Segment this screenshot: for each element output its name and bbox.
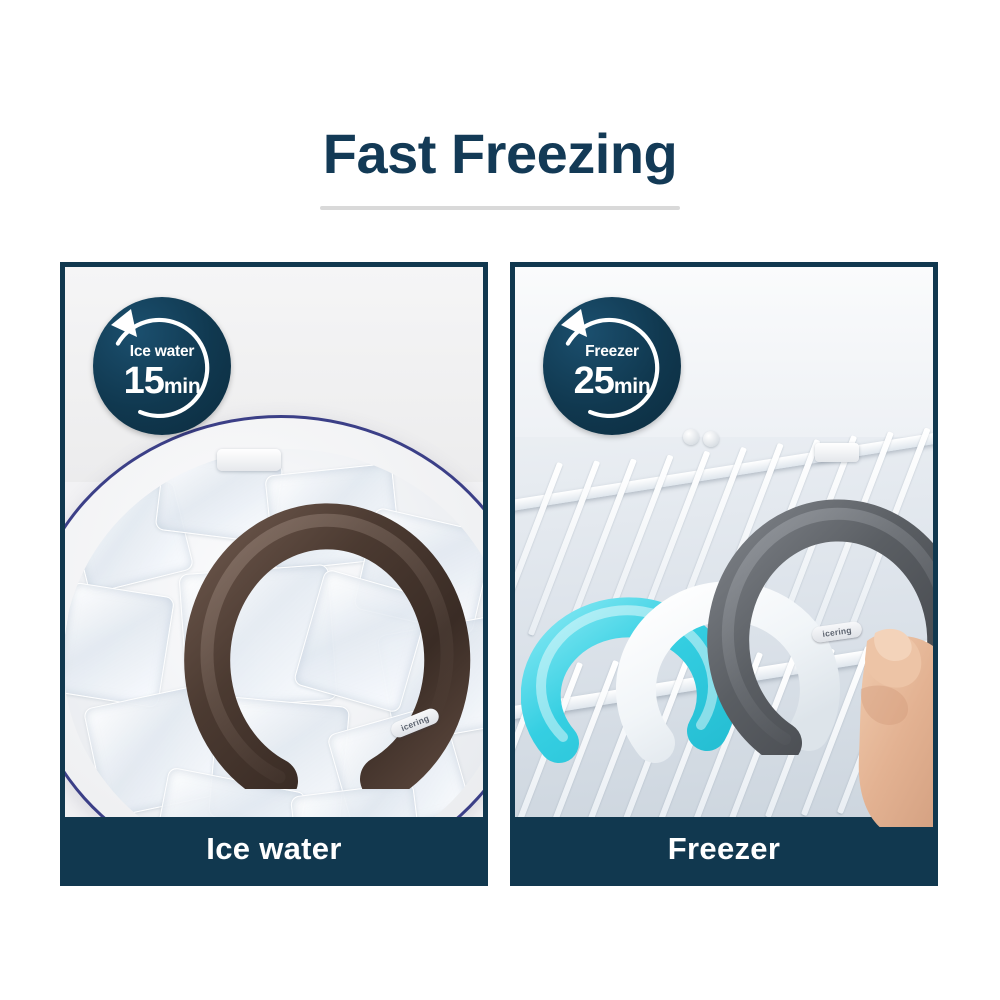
ice-cube (65, 582, 175, 709)
badge-time-value: 25 (574, 362, 614, 400)
badge-mode-label: Ice water (130, 344, 195, 360)
hand-holding-ring (815, 597, 933, 827)
badge-freezer: Freezer 25 min (543, 297, 681, 435)
header: Fast Freezing (0, 0, 1000, 230)
ice-water-photo: icering Ice water 15 min (65, 267, 483, 827)
badge-time: 25 min (574, 362, 651, 400)
title-divider (320, 206, 680, 210)
caption-label: Ice water (206, 831, 341, 867)
badge-time: 15 min (124, 362, 201, 400)
badge-freezer-text: Freezer 25 min (543, 297, 681, 435)
badge-time-unit: min (614, 376, 650, 397)
badge-ice-water: Ice water 15 min (93, 297, 231, 435)
badge-time-unit: min (164, 376, 200, 397)
hand-svg (815, 597, 933, 827)
caption-label: Freezer (668, 831, 780, 867)
caption-bar-ice-water: Ice water (65, 817, 483, 881)
badge-time-value: 15 (124, 362, 164, 400)
ring-clip-tag (217, 449, 281, 471)
badge-ice-water-text: Ice water 15 min (93, 297, 231, 435)
panel-freezer: icering (510, 262, 938, 886)
freezer-photo: icering (515, 267, 933, 827)
ring-clip-tag (815, 443, 859, 462)
neck-ring-brown (183, 459, 473, 789)
badge-mode-label: Freezer (585, 344, 639, 360)
panel-ice-water: icering Ice water 15 min Ice water (60, 262, 488, 886)
page-title: Fast Freezing (0, 125, 1000, 184)
neck-ring-brown-svg (183, 459, 473, 789)
